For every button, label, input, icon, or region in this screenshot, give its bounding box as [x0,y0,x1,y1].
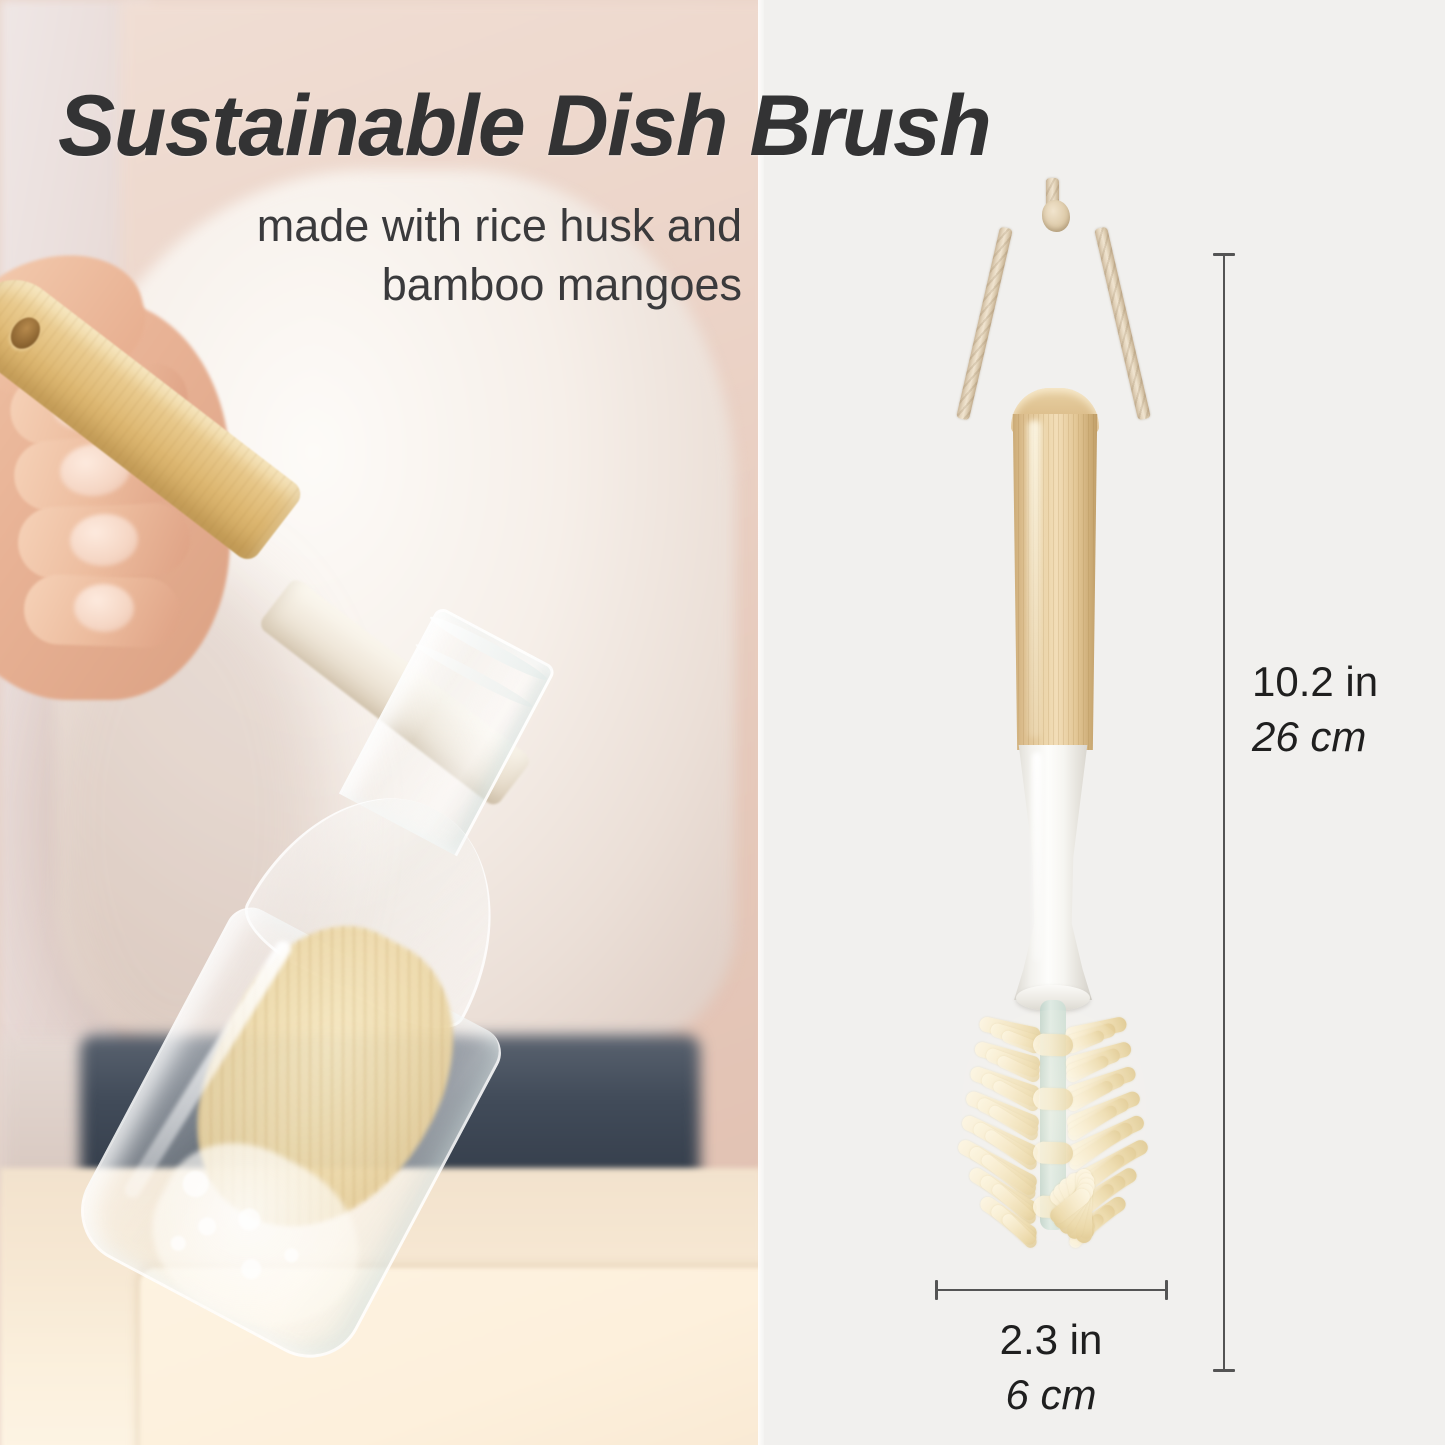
panel-divider [758,0,764,1445]
height-inches: 10.2 in [1252,655,1432,710]
bristle-tuft [1033,1033,1074,1056]
height-label: 10.2 in 26 cm [1252,655,1432,764]
width-label: 2.3 in 6 cm [901,1313,1201,1422]
bristle-tuft [1033,1087,1074,1110]
product-infographic: 10.2 in 26 cm 2.3 in 6 cm Sustainable Di… [0,0,1445,1445]
page-title: Sustainable Dish Brush [58,77,1313,176]
bamboo-grain [1013,414,1097,750]
subtitle-line-2: bamboo mangoes [60,256,742,315]
width-dimension-cap-left [935,1280,938,1300]
width-dimension-cap-right [1165,1280,1168,1300]
rope-knot-icon [1042,200,1070,232]
height-dimension-cap-top [1213,253,1235,256]
width-dimension-line [935,1289,1167,1291]
bristle-tuft [1033,1141,1074,1164]
bamboo-highlight [1028,420,1041,738]
height-dimension-cap-bottom [1213,1369,1235,1372]
neck-highlight [1032,752,1042,962]
subtitle-line-1: made with rice husk and [60,197,742,256]
page-subtitle: made with rice husk and bamboo mangoes [60,197,742,314]
height-dimension-line [1223,253,1225,1372]
width-centimeters: 6 cm [901,1368,1201,1423]
height-centimeters: 26 cm [1252,710,1432,765]
width-inches: 2.3 in [901,1313,1201,1368]
